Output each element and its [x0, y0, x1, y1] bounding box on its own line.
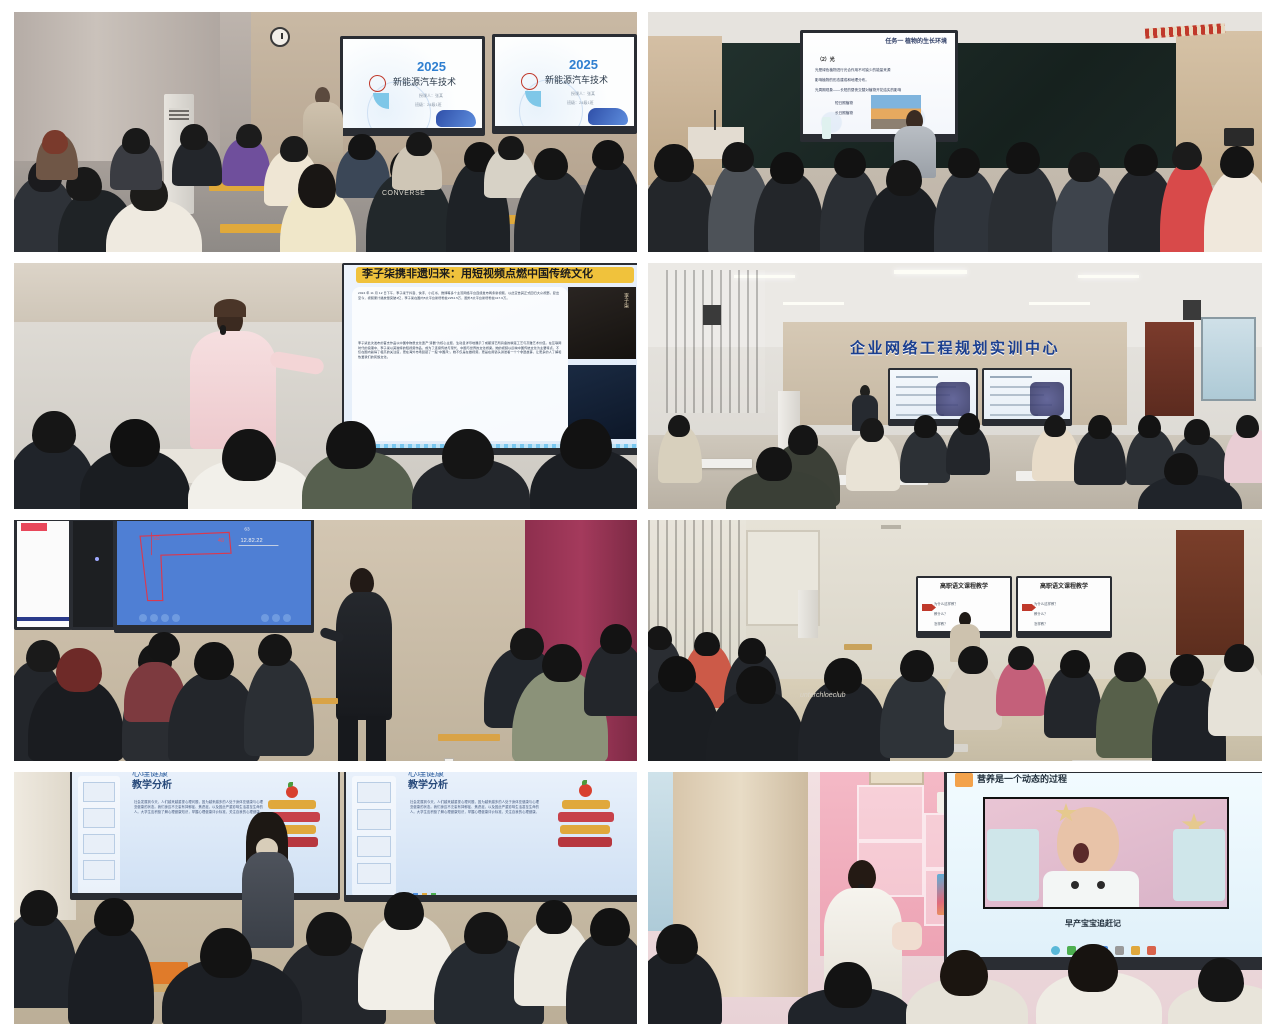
photo-panel-1[interactable]: 2025 新能源汽车技术 授课人：张某 班级：24级1班 2025 新能源汽车技… [14, 12, 637, 252]
photo-panel-2[interactable]: 任务一 植物的生长环境 （2）光 光是绿色植物进行光合作用不可缺少的能量来源 影… [648, 12, 1262, 252]
slide-item-1: 为什么这样教？ [934, 602, 958, 606]
svg-text:50: 50 [153, 536, 159, 542]
slide-title-year: 2025 [417, 59, 446, 75]
slide-subtitle: 教学分析 [132, 780, 172, 793]
ceiling-fixture [881, 525, 901, 529]
display-aux[interactable] [14, 520, 72, 630]
window [1201, 317, 1256, 401]
whiteboard-toolbar[interactable] [139, 614, 180, 622]
slide-bullet-2: 影响植物的形态建成和地理分布。 [815, 78, 869, 82]
car-illustration [436, 110, 476, 127]
student-desk [844, 644, 872, 650]
slide-thumbnail-rail [78, 776, 120, 896]
photo-panel-8[interactable]: 营养是一个动态的过程 早产宝宝追赶记 [648, 772, 1262, 1024]
slide-presenter-line: 授课人：张某 [571, 91, 595, 96]
classroom-door[interactable] [1176, 530, 1244, 655]
slide-bullet-1: 光是绿色植物进行光合作用不可缺少的能量来源 [815, 68, 890, 72]
slide-class-line: 班级：24级1班 [567, 100, 594, 105]
slide-subtitle: 新能源汽车技术 [393, 77, 456, 88]
slide-title: 高职语文课程教学 [1040, 584, 1088, 592]
slide-title: 心理健康 [408, 772, 444, 779]
slide-class-line: 班级：24级1班 [415, 102, 442, 107]
display-blank[interactable] [70, 520, 116, 630]
display-right[interactable]: 心理健康 教学分析 社会发展到今天，人们越来越重视心理问题，因为越来越多的人处于… [344, 772, 637, 902]
slide-paragraph-1: 2024 年 11 月 12 日下午，李子柒于抖音、快手、小红书、微博等多个主流… [358, 291, 562, 300]
slide-item-3: 怎样教？ [1034, 622, 1048, 626]
slide-side-image-1: 李子柒 [568, 287, 636, 359]
sanitizer-bottle [822, 117, 831, 139]
slide-thumbnail-rail [352, 776, 396, 896]
svg-text:63: 63 [244, 526, 250, 532]
slide-subtitle: 教学分析 [408, 780, 448, 793]
slide-title: 高职语文课程教学 [940, 584, 988, 592]
speaker [703, 305, 721, 325]
slide-item-1: 为什么这样教？ [1034, 602, 1058, 606]
slide-bullet-3: 光周期现象——长短的昼夜交替对植物开花结实的影响 [815, 88, 901, 92]
display-left[interactable]: 2025 新能源汽车技术 授课人：张某 班级：24级1班 [340, 36, 485, 136]
slide-title-year: 2025 [569, 57, 598, 73]
video-frame[interactable] [983, 797, 1229, 909]
slide-presenter-line: 授课人：张某 [419, 93, 443, 98]
slide-subbullet-2: 长日照植物 [835, 111, 853, 115]
slide-title: 心理健康 [132, 772, 168, 779]
shelf-cube [857, 785, 925, 841]
photo-panel-6[interactable]: 高职语文课程教学 为什么这样教？ 教什么？ 怎样教？ 高职语文课程教学 为什么这… [648, 520, 1262, 761]
display-right[interactable]: 2025 新能源汽车技术 授课人：张某 班级：24级1班 [492, 34, 637, 134]
slide-title: 任务一 植物的生长环境 [885, 39, 947, 47]
slide-item-2: 教什么？ [934, 612, 948, 616]
display-main[interactable]: 营养是一个动态的过程 早产宝宝追赶记 [944, 772, 1262, 970]
slide-subtitle: 新能源汽车技术 [545, 75, 608, 86]
student-desk [438, 734, 500, 741]
svg-text:12.82.22: 12.82.22 [241, 538, 263, 544]
car-illustration [588, 108, 628, 125]
slide-subbullet-1: 短日照植物 [835, 101, 853, 105]
slide-paragraph-2: 李子柒此次发布的首支作品以中国非物质文化遗产“漆器”为核心主题，生动且详尽地展示… [358, 341, 562, 360]
slide-paragraph: 社会发展到今天，人们越来越重视心理问题，因为越来越多的人处于身体亚健康与心理亚健… [134, 800, 264, 815]
camera-equipment [1224, 128, 1254, 146]
rack-illustration [1030, 382, 1064, 416]
slide-caption: 早产宝宝追赶记 [1065, 919, 1121, 929]
slide-section: （2）光 [817, 57, 835, 63]
picture-frame [869, 772, 924, 785]
slide-paragraph: 社会发展到今天，人们越来越重视心理问题，因为越来越多的人处于身体亚健康与心理亚健… [410, 800, 542, 815]
clothing-text: unterchloeclub [800, 692, 846, 699]
svg-text:40: 40 [218, 538, 224, 544]
photo-panel-4[interactable]: 企业网络工程规划实训中心 [648, 263, 1262, 509]
display-right[interactable]: 高职语文课程教学 为什么这样教？ 教什么？ 怎样教？ [1016, 576, 1112, 638]
hand [892, 922, 922, 950]
clothing-text: CONVERSE [382, 190, 425, 197]
student-desk [1072, 760, 1158, 761]
slide-item-3: 怎样教？ [934, 622, 948, 626]
photo-collage: 2025 新能源汽车技术 授课人：张某 班级：24级1班 2025 新能源汽车技… [0, 0, 1280, 1024]
microphone [714, 110, 716, 130]
display-left[interactable]: 心理健康 教学分析 社会发展到今天，人们越来越重视心理问题，因为越来越多的人处于… [70, 772, 340, 900]
wall-sign: 企业网络工程规划实训中心 [648, 337, 1262, 358]
photo-panel-5[interactable]: 50 40 63 12.82.22 [14, 520, 637, 761]
headset-microphone-icon [220, 325, 226, 335]
slide-title: 李子柒携非遗归来：用短视频点燃中国传统文化 [362, 268, 593, 282]
whiteboard-toolbar-right[interactable] [261, 614, 291, 622]
rack-illustration [936, 382, 970, 416]
power-outlet [444, 758, 454, 761]
wall-clock-icon [270, 27, 290, 47]
photo-panel-7[interactable]: 心理健康 教学分析 社会发展到今天，人们越来越重视心理问题，因为越来越多的人处于… [14, 772, 637, 1024]
slide-title: 营养是一个动态的过程 [977, 774, 1067, 785]
slide-item-2: 教什么？ [1034, 612, 1048, 616]
photo-panel-3[interactable]: 李子柒携非遗归来：用短视频点燃中国传统文化 2024 年 11 月 12 日下午… [14, 263, 637, 509]
whiteboard-app[interactable]: 50 40 63 12.82.22 [114, 520, 314, 633]
air-conditioner [798, 590, 818, 638]
speaker [1183, 300, 1201, 320]
